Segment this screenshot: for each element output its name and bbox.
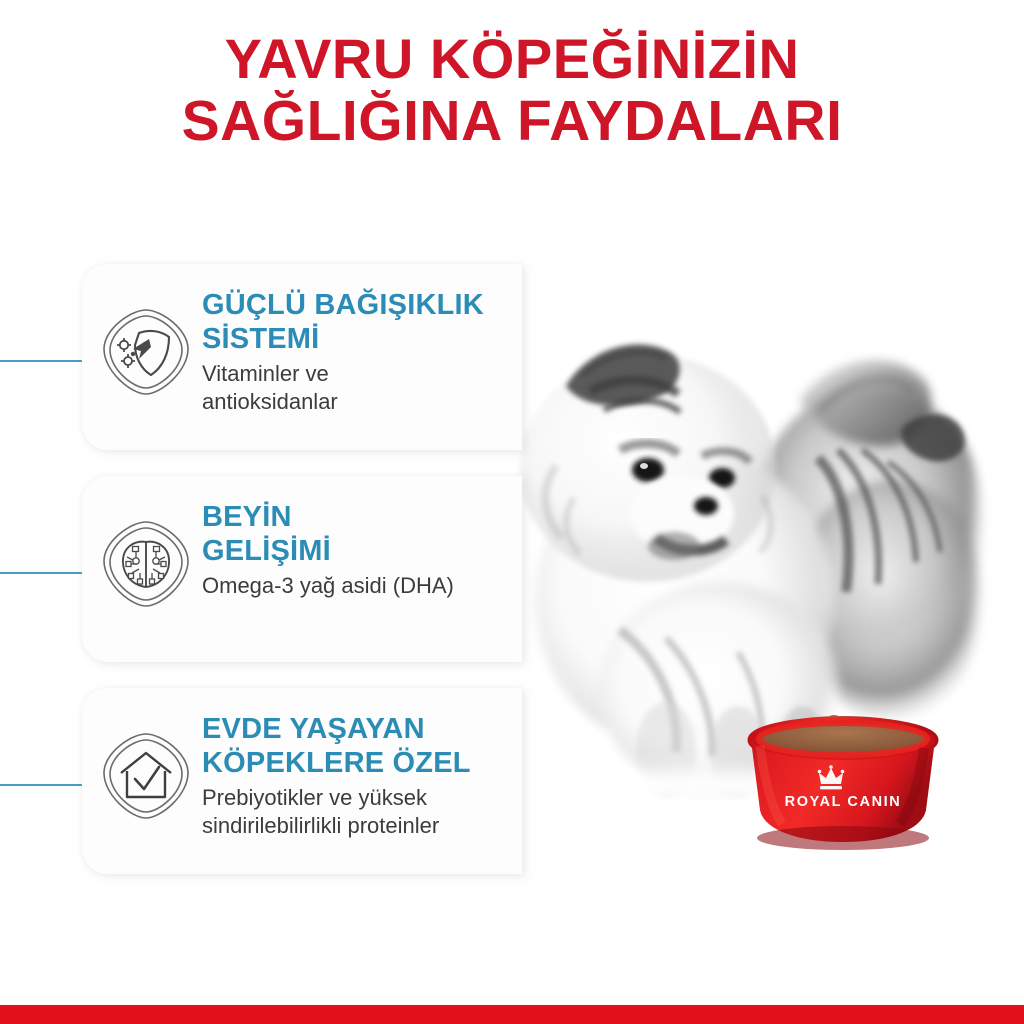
- headline-line-1: YAVRU KÖPEĞİNİZİN: [0, 28, 1024, 90]
- benefit-subtitle: Omega-3 yağ asidi (DHA): [202, 572, 552, 600]
- benefits-list: GÜÇLÜ BAĞIŞIKLIK SİSTEMİ Vitaminler ve a…: [0, 250, 560, 886]
- headline-line-2: SAĞLIĞINA FAYDALARI: [0, 90, 1024, 152]
- benefit-item-immune-system: GÜÇLÜ BAĞIŞIKLIK SİSTEMİ Vitaminler ve a…: [0, 250, 560, 462]
- connector-line: [0, 360, 82, 362]
- benefit-title: BEYİN GELİŞİMİ: [202, 500, 552, 568]
- connector-line: [0, 784, 82, 786]
- product-benefits-banner: YAVRU KÖPEĞİNİZİN SAĞLIĞINA FAYDALARI: [0, 0, 1024, 1024]
- benefit-subtitle: Vitaminler ve antioksidanlar: [202, 360, 552, 416]
- connector-line: [0, 572, 82, 574]
- brand-wordmark: ROYAL CANIN: [785, 794, 902, 810]
- red-royal-canin-food-bowl: ROYAL CANIN ®: [712, 706, 974, 854]
- benefit-title: EVDE YAŞAYAN KÖPEKLERE ÖZEL: [202, 712, 552, 780]
- benefit-item-indoor-dogs: EVDE YAŞAYAN KÖPEKLERE ÖZEL Prebiyotikle…: [0, 674, 560, 886]
- shield-germ-icon: [98, 304, 194, 400]
- benefit-item-brain-development: BEYİN GELİŞİMİ Omega-3 yağ asidi (DHA): [0, 462, 560, 674]
- benefit-subtitle: Prebiyotikler ve yüksek sindirilebilirli…: [202, 784, 552, 840]
- bottom-accent-bar: [0, 1005, 1024, 1024]
- house-check-icon: [98, 728, 194, 824]
- benefit-title: GÜÇLÜ BAĞIŞIKLIK SİSTEMİ: [202, 288, 552, 356]
- brain-circuit-icon: [98, 516, 194, 612]
- trademark-symbol: ®: [928, 794, 934, 802]
- page-title: YAVRU KÖPEĞİNİZİN SAĞLIĞINA FAYDALARI: [0, 28, 1024, 152]
